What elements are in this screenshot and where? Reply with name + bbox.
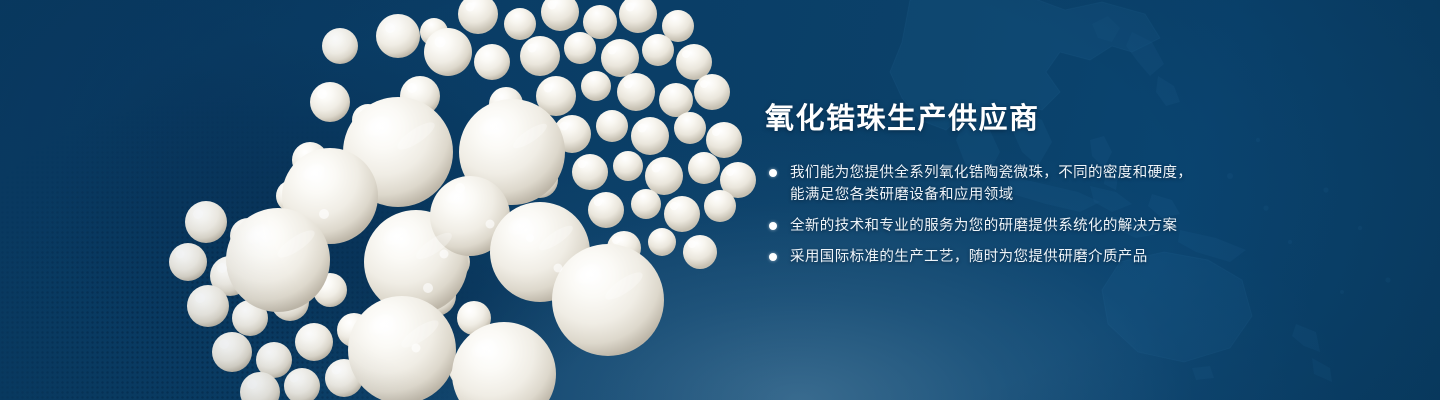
feature-item-3: 采用国际标准的生产工艺，随时为您提供研磨介质产品 [765, 246, 1365, 268]
banner-headline: 氧化锆珠生产供应商 [765, 104, 1365, 136]
bullet-dot-icon [769, 253, 777, 261]
banner-copy: 氧化锆珠生产供应商 我们能为您提供全系列氧化锆陶瓷微珠，不同的密度和硬度， 能满… [765, 104, 1365, 268]
feature-item-1: 我们能为您提供全系列氧化锆陶瓷微珠，不同的密度和硬度， 能满足您各类研磨设备和应… [765, 162, 1365, 206]
promo-banner: 氧化锆珠生产供应商 我们能为您提供全系列氧化锆陶瓷微珠，不同的密度和硬度， 能满… [0, 0, 1440, 400]
bullet-dot-icon [769, 222, 777, 230]
feature-item-2: 全新的技术和专业的服务为您的研磨提供系统化的解决方案 [765, 215, 1365, 237]
feature-item-1-line-2: 能满足您各类研磨设备和应用领域 [790, 184, 1365, 206]
feature-item-2-line-1: 全新的技术和专业的服务为您的研磨提供系统化的解决方案 [790, 215, 1365, 237]
bullet-dot-icon [769, 169, 777, 177]
feature-item-3-line-1: 采用国际标准的生产工艺，随时为您提供研磨介质产品 [790, 246, 1365, 268]
feature-item-1-line-1: 我们能为您提供全系列氧化锆陶瓷微珠，不同的密度和硬度， [790, 162, 1365, 184]
feature-list: 我们能为您提供全系列氧化锆陶瓷微珠，不同的密度和硬度， 能满足您各类研磨设备和应… [765, 162, 1365, 268]
